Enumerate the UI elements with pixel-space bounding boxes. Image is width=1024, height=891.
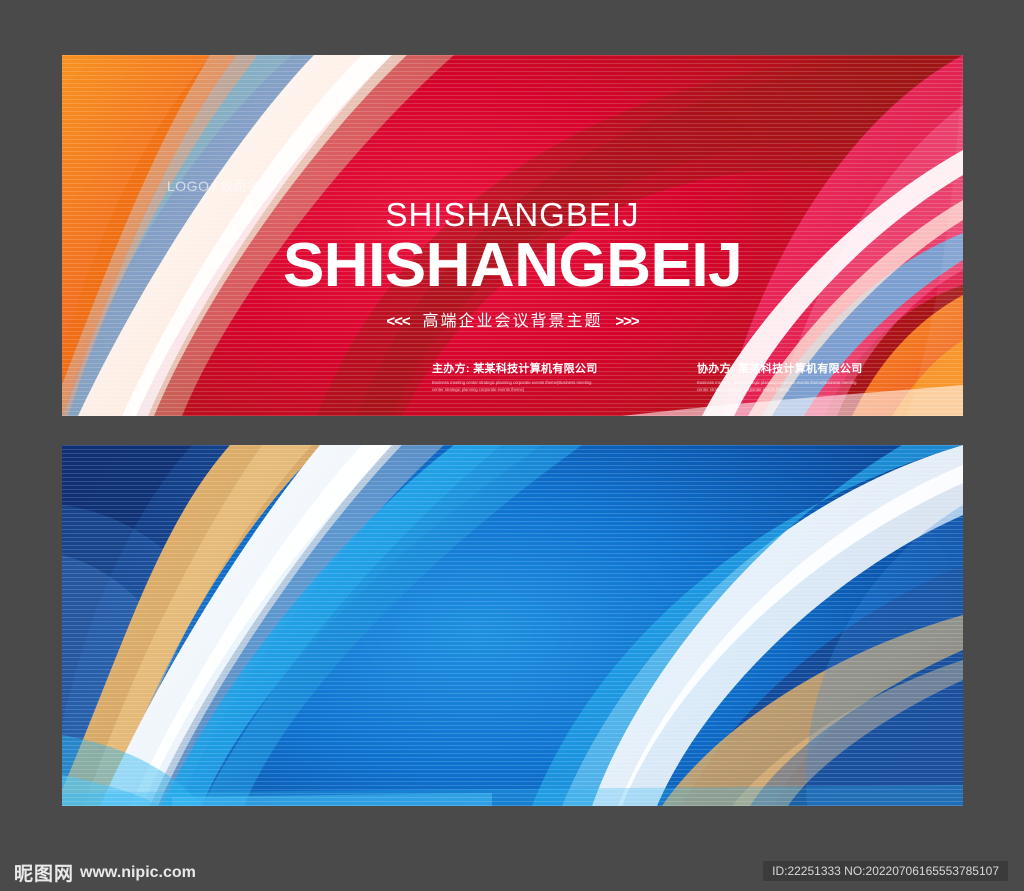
footer-bar: 昵图网www.nipic.com ID:22251333 NO:20220706… [0, 850, 1024, 891]
red-logo-separator: / [212, 178, 216, 194]
red-logo-company: 公司名称 [220, 179, 274, 194]
red-conference-banner: LOGO/公司名称 SHISHANGBEIJ SHISHANGBEIJ <<< … [62, 55, 963, 416]
site-url: www.nipic.com [80, 864, 196, 881]
left-chevrons-icon: <<< [386, 313, 409, 330]
red-logo-brand: LOGO [167, 178, 209, 194]
red-organizer-main-desc: Business meeting center strategic planni… [432, 380, 602, 393]
right-chevrons-icon: >>> [615, 313, 638, 330]
site-name-chinese: 昵图网 [14, 864, 74, 885]
red-title-line1: SHISHANGBEIJ [62, 198, 963, 231]
red-organizer-co: 协办方: 某某科技计算机有限公司 Business meeting center… [697, 360, 867, 393]
image-id-badge: ID:22251333 NO:20220706165553785107 [763, 861, 1008, 881]
red-banner-title-block: SHISHANGBEIJ SHISHANGBEIJ <<< 高端企业会议背景主题… [62, 198, 963, 331]
site-watermark: 昵图网www.nipic.com [14, 859, 196, 886]
red-banner-logo: LOGO/公司名称 [167, 176, 274, 195]
blue-banner-swoosh-artwork [62, 445, 963, 806]
red-organizer-co-desc: Business meeting center strategic planni… [697, 380, 867, 393]
red-title-line2: SHISHANGBEIJ [62, 233, 963, 298]
red-organizer-co-label: 协办方: 某某科技计算机有限公司 [697, 360, 867, 376]
red-subtitle-line: <<< 高端企业会议背景主题 >>> [62, 307, 963, 331]
red-organizer-main: 主办方: 某某科技计算机有限公司 Business meeting center… [432, 360, 602, 393]
screenshot-stage: LOGO/公司名称 SHISHANGBEIJ SHISHANGBEIJ <<< … [0, 0, 1024, 891]
red-organizer-main-label: 主办方: 某某科技计算机有限公司 [432, 360, 602, 376]
blue-conference-banner: LOGO/公司名称 创新未来|QYEFGAODUANHUIYI Business… [62, 445, 963, 806]
red-subtitle-text: 高端企业会议背景主题 [422, 313, 602, 330]
red-banner-organizer-row: 主办方: 某某科技计算机有限公司 Business meeting center… [432, 360, 892, 393]
